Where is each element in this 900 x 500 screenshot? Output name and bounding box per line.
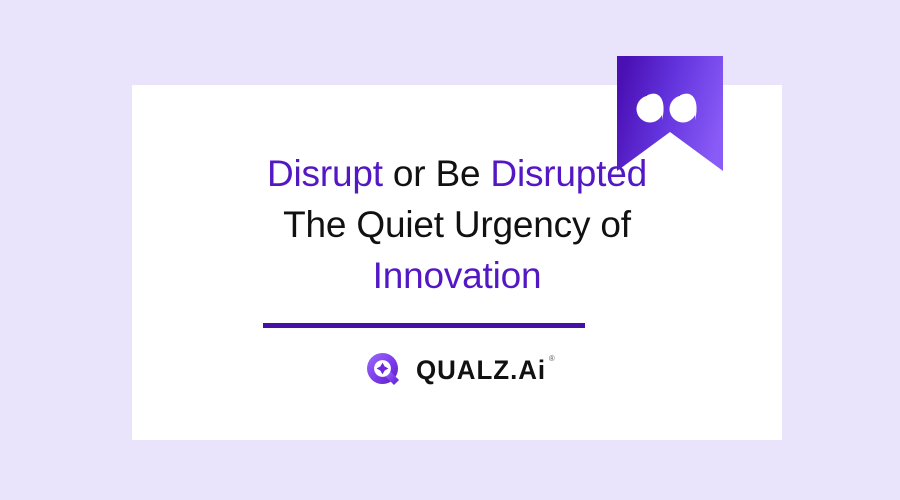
quote-marks-icon (617, 56, 723, 171)
brand-logo-lockup: QUALZ.Ai® (132, 348, 782, 392)
headline-plain-or-be: or Be (383, 153, 491, 194)
quote-ribbon-badge (617, 56, 723, 171)
headline-line-3: Innovation (132, 250, 782, 301)
registered-trademark-mark: ® (549, 355, 555, 363)
quote-card-canvas: Disrupt or Be Disrupted The Quiet Urgenc… (0, 0, 900, 500)
headline-line-2: The Quiet Urgency of (132, 199, 782, 250)
brand-wordmark-text: QUALZ.Ai (416, 355, 546, 385)
qualz-q-mark-icon (363, 349, 405, 391)
divider-rule (263, 323, 585, 328)
brand-wordmark: QUALZ.Ai® (416, 357, 546, 384)
headline-accent-disrupt: Disrupt (267, 153, 383, 194)
